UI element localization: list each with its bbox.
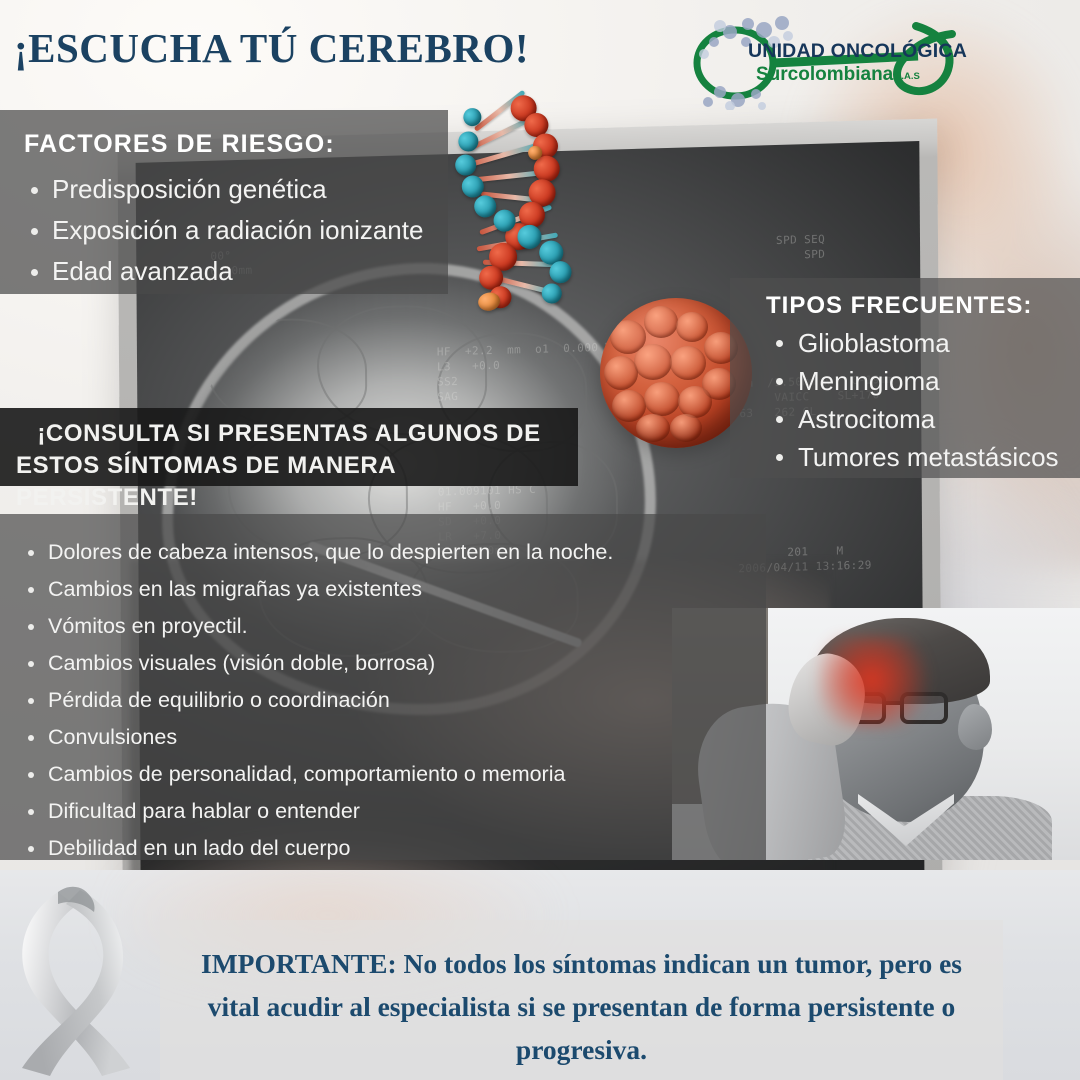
infographic-poster: 00° 6.00mm SPD SEQ SPD HF +2.2 mm o1 0.0… [0,0,1080,1080]
logo-sas-text: S.A.S [895,71,920,82]
common-types-list: Glioblastoma Meningioma Astrocitoma Tumo… [766,324,1070,476]
symptoms-list: Dolores de cabeza intensos, que lo despi… [22,534,746,867]
important-note-panel: IMPORTANTE: No todos los síntomas indica… [160,920,1003,1080]
brand-logo[interactable]: UNIDAD ONCOLÓGICA Surcolombiana S.A.S [690,14,980,110]
list-item: Debilidad en un lado del cuerpo [22,830,746,867]
consult-banner-line2: ESTOS SÍNTOMAS DE MANERA PERSISTENTE! [16,450,562,514]
list-item: Dificultad para hablar o entender [22,793,746,830]
patient-ear [958,704,992,750]
page-title: ¡ESCUCHA TÚ CEREBRO! [14,24,529,72]
list-item: Convulsiones [22,719,746,756]
list-item: Vómitos en proyectil. [22,608,746,645]
list-item: Edad avanzada [24,251,424,292]
risk-factors-heading: FACTORES DE RIESGO: [24,130,424,159]
symptoms-panel: Dolores de cabeza intensos, que lo despi… [0,514,766,860]
pain-glow-indicator [818,636,934,728]
list-item: Cambios en las migrañas ya existentes [22,571,746,608]
consult-banner: ¡CONSULTA SI PRESENTAS ALGUNOS DE ESTOS … [0,408,578,486]
scan-readout-topright: SPD SEQ SPD [776,232,825,263]
list-item: Glioblastoma [766,324,1070,362]
common-types-panel: TIPOS FRECUENTES: Glioblastoma Meningiom… [730,278,1080,478]
list-item: Astrocitoma [766,400,1070,438]
gray-awareness-ribbon-icon [6,872,176,1080]
list-item: Meningioma [766,362,1070,400]
list-item: Pérdida de equilibrio o coordinación [22,682,746,719]
logo-secondary-text: Surcolombiana [756,64,893,86]
list-item: Predisposición genética [24,169,424,210]
list-item: Tumores metastásicos [766,438,1070,476]
logo-primary-text: UNIDAD ONCOLÓGICA [748,40,967,63]
important-note-text: IMPORTANTE: No todos los síntomas indica… [200,942,963,1071]
common-types-heading: TIPOS FRECUENTES: [766,292,1070,320]
list-item: Dolores de cabeza intensos, que lo despi… [22,534,746,571]
consult-banner-line1: ¡CONSULTA SI PRESENTAS ALGUNOS DE [16,418,562,450]
risk-factors-list: Predisposición genética Exposición a rad… [24,169,424,292]
list-item: Cambios visuales (visión doble, borrosa) [22,645,746,682]
risk-factors-panel: FACTORES DE RIESGO: Predisposición genét… [0,110,448,294]
list-item: Exposición a radiación ionizante [24,210,424,251]
list-item: Cambios de personalidad, comportamiento … [22,756,746,793]
